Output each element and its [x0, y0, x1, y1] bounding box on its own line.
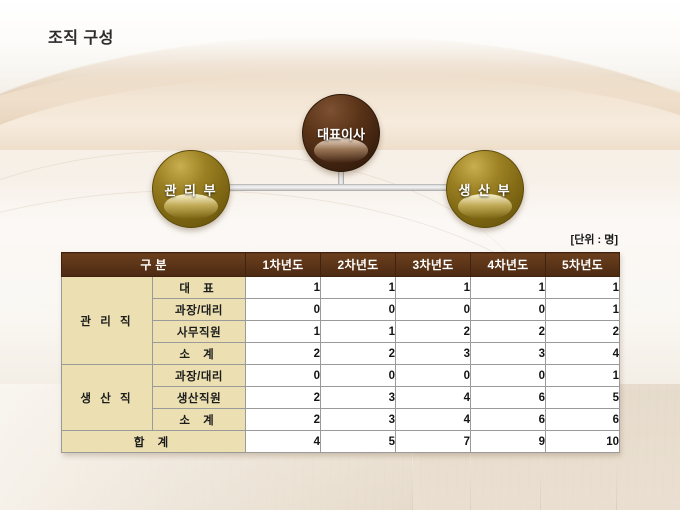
- row-label: 과장/대리: [153, 365, 246, 387]
- cell-value: 2: [546, 321, 620, 343]
- total-value: 5: [321, 431, 396, 453]
- cell-value: 2: [246, 409, 321, 431]
- cell-value: 1: [546, 299, 620, 321]
- cell-value: 6: [471, 387, 546, 409]
- header-cell-gubun: 구 분: [62, 253, 246, 277]
- total-value: 7: [396, 431, 471, 453]
- org-node-ceo[interactable]: 대표이사: [302, 94, 380, 172]
- org-chart: 대표이사 관 리 부 생 산 부: [0, 0, 680, 250]
- cell-value: 0: [246, 365, 321, 387]
- header-cell-year5: 5차년도: [546, 253, 620, 277]
- table-row: 관 리 직 대 표 1 1 1 1 1: [62, 277, 620, 299]
- headcount-table: 구 분 1차년도 2차년도 3차년도 4차년도 5차년도 관 리 직 대 표 1…: [61, 252, 620, 453]
- header-cell-year2: 2차년도: [321, 253, 396, 277]
- table-head: 구 분 1차년도 2차년도 3차년도 4차년도 5차년도: [62, 253, 620, 277]
- cell-value: 1: [546, 277, 620, 299]
- table-body: 관 리 직 대 표 1 1 1 1 1 과장/대리 0 0 0 0 1: [62, 277, 620, 453]
- cell-value: 1: [321, 277, 396, 299]
- org-node-management[interactable]: 관 리 부: [152, 150, 230, 228]
- org-node-management-label: 관 리 부: [164, 180, 217, 199]
- cell-value: 0: [321, 365, 396, 387]
- cell-value: 1: [321, 321, 396, 343]
- cell-value: 4: [396, 387, 471, 409]
- cell-value: 2: [246, 343, 321, 365]
- row-label: 과장/대리: [153, 299, 246, 321]
- header-cell-year3: 3차년도: [396, 253, 471, 277]
- row-label: 소 계: [153, 409, 246, 431]
- org-node-production-label: 생 산 부: [458, 180, 511, 199]
- cell-value: 2: [321, 343, 396, 365]
- cell-value: 0: [471, 365, 546, 387]
- cell-value: 2: [396, 321, 471, 343]
- cell-value: 4: [396, 409, 471, 431]
- table-header-row: 구 분 1차년도 2차년도 3차년도 4차년도 5차년도: [62, 253, 620, 277]
- org-node-production[interactable]: 생 산 부: [446, 150, 524, 228]
- cell-value: 0: [321, 299, 396, 321]
- row-label: 사무직원: [153, 321, 246, 343]
- slide-canvas: 조직 구성 대표이사 관 리 부 생 산 부 [단위 : 명]: [0, 0, 680, 510]
- cell-value: 3: [471, 343, 546, 365]
- cell-value: 3: [396, 343, 471, 365]
- cell-value: 1: [546, 365, 620, 387]
- cell-value: 4: [546, 343, 620, 365]
- cell-value: 0: [396, 365, 471, 387]
- cell-value: 6: [546, 409, 620, 431]
- cell-value: 1: [471, 277, 546, 299]
- group-label-production: 생 산 직: [62, 365, 153, 431]
- cell-value: 3: [321, 387, 396, 409]
- cell-value: 5: [546, 387, 620, 409]
- row-label: 대 표: [153, 277, 246, 299]
- header-cell-year4: 4차년도: [471, 253, 546, 277]
- table-total-row: 합 계 4 5 7 9 10: [62, 431, 620, 453]
- cell-value: 2: [246, 387, 321, 409]
- total-value: 4: [246, 431, 321, 453]
- cell-value: 1: [246, 321, 321, 343]
- unit-caption: [단위 : 명]: [571, 231, 618, 247]
- total-value: 10: [546, 431, 620, 453]
- cell-value: 3: [321, 409, 396, 431]
- group-label-management: 관 리 직: [62, 277, 153, 365]
- total-label: 합 계: [62, 431, 246, 453]
- cell-value: 1: [396, 277, 471, 299]
- cell-value: 0: [246, 299, 321, 321]
- cell-value: 0: [396, 299, 471, 321]
- cell-value: 2: [471, 321, 546, 343]
- cell-value: 0: [471, 299, 546, 321]
- headcount-table-wrapper: 구 분 1차년도 2차년도 3차년도 4차년도 5차년도 관 리 직 대 표 1…: [61, 252, 619, 453]
- cell-value: 6: [471, 409, 546, 431]
- header-cell-year1: 1차년도: [246, 253, 321, 277]
- table-row: 생 산 직 과장/대리 0 0 0 0 1: [62, 365, 620, 387]
- row-label: 생산직원: [153, 387, 246, 409]
- total-value: 9: [471, 431, 546, 453]
- org-node-ceo-label: 대표이사: [317, 124, 365, 143]
- cell-value: 1: [246, 277, 321, 299]
- row-label: 소 계: [153, 343, 246, 365]
